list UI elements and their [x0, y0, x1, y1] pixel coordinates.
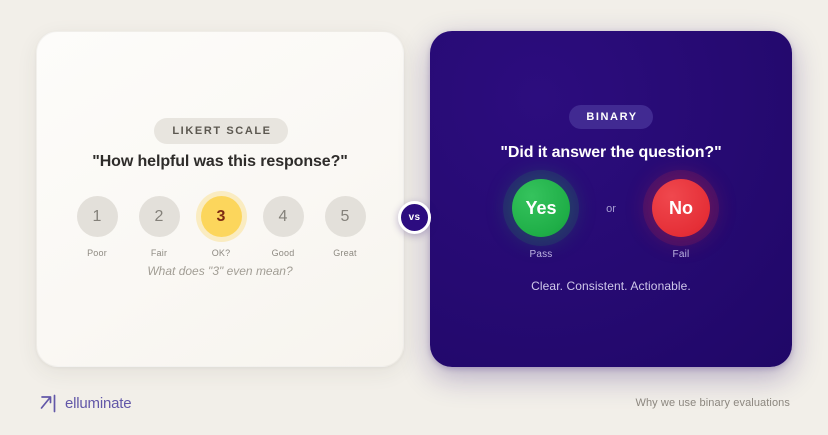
footer-note: Why we use binary evaluations: [635, 397, 790, 409]
likert-option-2[interactable]: 2 Fair: [136, 196, 183, 258]
brand-name: elluminate: [65, 395, 131, 412]
likert-option-4-label: Good: [260, 248, 307, 258]
vs-badge: vs: [398, 201, 431, 234]
binary-conjunction: or: [602, 179, 620, 215]
binary-badge-wrap: BINARY: [430, 105, 792, 129]
comparison-cards: LIKERT SCALE "How helpful was this respo…: [0, 0, 828, 400]
footer-bar: elluminate Why we use binary evaluations: [0, 379, 828, 435]
likert-footnote: What does "3" even mean?: [37, 264, 403, 278]
binary-choice-row: Yes Pass or No Fail: [430, 179, 792, 260]
slide-canvas: LIKERT SCALE "How helpful was this respo…: [0, 0, 828, 435]
likert-option-4-value[interactable]: 4: [263, 196, 304, 237]
binary-choice-no-label: Fail: [638, 249, 724, 260]
likert-scale-card: LIKERT SCALE "How helpful was this respo…: [36, 31, 404, 367]
likert-option-4[interactable]: 4 Good: [260, 196, 307, 258]
binary-choice-no[interactable]: No Fail: [638, 179, 724, 260]
likert-option-2-value[interactable]: 2: [139, 196, 180, 237]
binary-question: "Did it answer the question?": [430, 144, 792, 162]
binary-choice-yes-value[interactable]: Yes: [512, 179, 570, 237]
likert-option-5[interactable]: 5 Great: [322, 196, 369, 258]
likert-option-3-value[interactable]: 3: [201, 196, 242, 237]
binary-choice-no-value[interactable]: No: [652, 179, 710, 237]
likert-option-1-value[interactable]: 1: [77, 196, 118, 237]
likert-option-3-label: OK?: [198, 248, 245, 258]
elluminate-mark-icon: [38, 393, 58, 414]
likert-option-5-value[interactable]: 5: [325, 196, 366, 237]
binary-footnote: Clear. Consistent. Actionable.: [430, 279, 792, 293]
likert-option-1[interactable]: 1 Poor: [74, 196, 121, 258]
likert-option-2-label: Fair: [136, 248, 183, 258]
likert-option-3[interactable]: 3 OK?: [198, 196, 245, 258]
likert-badge: LIKERT SCALE: [154, 118, 287, 144]
binary-badge: BINARY: [569, 105, 652, 129]
binary-choice-yes-label: Pass: [498, 249, 584, 260]
likert-question: "How helpful was this response?": [37, 153, 403, 171]
brand-logo[interactable]: elluminate: [38, 393, 131, 414]
likert-badge-wrap: LIKERT SCALE: [37, 118, 405, 144]
binary-choice-yes[interactable]: Yes Pass: [498, 179, 584, 260]
likert-option-1-label: Poor: [74, 248, 121, 258]
binary-card: BINARY "Did it answer the question?" Yes…: [430, 31, 792, 367]
likert-scale-row: 1 Poor 2 Fair 3 OK? 4 Good 5 Great: [37, 196, 405, 258]
likert-option-5-label: Great: [322, 248, 369, 258]
